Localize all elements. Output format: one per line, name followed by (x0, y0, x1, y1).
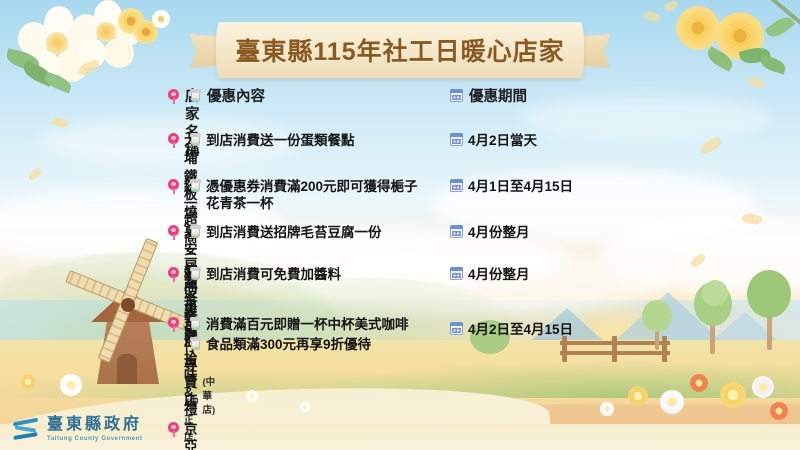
pin-icon (168, 179, 179, 194)
calendar-icon (450, 267, 463, 280)
store-branch: (中華店) (203, 374, 216, 416)
pin-icon (168, 133, 179, 148)
calendar-icon (450, 322, 463, 335)
pin-icon (168, 317, 179, 332)
offer-text: 到店消費可免費加醬料 (206, 266, 341, 283)
period-line: 4月2日當天 (450, 132, 680, 149)
drink-cup-icon (190, 133, 201, 147)
small-flower-decor (152, 10, 170, 28)
calendar-icon (450, 225, 463, 238)
flower-decor (752, 376, 774, 398)
table-row: 夏安居蔬食餐廳 到店消費送招牌毛苔豆腐一份 4月份整月 (0, 224, 800, 266)
offers-table: 店家名稱 優惠內容 優惠期間 (0, 88, 800, 362)
flower-decor (300, 402, 310, 412)
period-text: 4月2日當天 (468, 132, 537, 149)
period-line: 4月1日至4月15日 (450, 178, 680, 195)
offer-text: 到店消費送一份蛋類餐點 (206, 132, 355, 149)
title-ribbon: 臺東縣115年社工日暖心店家 (190, 22, 610, 78)
drink-cup-icon (190, 317, 201, 331)
table-row: 波波雞蛋仔專賣店 (中正店、微光集、觀光夜市、四維夜市) 到店消費可免費加醬料 … (0, 266, 800, 316)
drink-cup-icon (190, 89, 201, 103)
period-text: 4月2日至4月15日 (468, 321, 573, 338)
org-name-en: Taitung County Government (47, 436, 143, 442)
flower-decor (600, 402, 614, 416)
calendar-icon (450, 179, 463, 192)
flower-decor (770, 402, 788, 420)
offer-line: 到店消費可免費加醬料 (190, 266, 450, 283)
yellow-flower-decor (676, 6, 720, 50)
drink-cup-icon (190, 267, 201, 281)
drink-cup-icon (190, 179, 201, 193)
period-line: 4月2日至4月15日 (450, 321, 680, 338)
offer-line: 到店消費送招牌毛苔豆腐一份 (190, 224, 450, 241)
flower-decor (660, 390, 684, 414)
flower-decor (246, 390, 258, 402)
calendar-icon (450, 89, 463, 102)
header-cell-period: 優惠期間 (450, 88, 680, 106)
header-label-period: 優惠期間 (469, 88, 527, 106)
drink-cup-icon (190, 225, 201, 239)
offer-text: 到店消費送招牌毛苔豆腐一份 (206, 224, 382, 241)
org-name-cn: 臺東縣政府 (47, 417, 143, 433)
period-text: 4月份整月 (468, 224, 530, 241)
pin-icon (168, 422, 179, 437)
table-header-row: 店家名稱 優惠內容 優惠期間 (0, 88, 800, 132)
taitung-wave-logo-icon (12, 416, 40, 442)
pin-icon (168, 89, 179, 104)
flower-decor (720, 382, 746, 408)
pin-icon (168, 225, 179, 240)
store-line: 京亞拾味&禮 (中華店) (168, 316, 190, 418)
store-name: 京亞伴手禮 (184, 421, 198, 450)
offer-line: 消費滿百元即贈一杯中杯美式咖啡 (190, 316, 450, 333)
ribbon-body: 臺東縣115年社工日暖心店家 (216, 22, 584, 78)
offer-text: 憑優惠券消費滿200元即可獲得梔子花青茶一杯 (206, 178, 430, 212)
offer-line: 憑優惠券消費滿200元即可獲得梔子花青茶一杯 (190, 178, 450, 212)
flower-decor (690, 374, 708, 392)
pin-icon (168, 267, 179, 282)
header-label-offer: 優惠內容 (207, 88, 265, 106)
store-line: 京亞伴手禮 (東河店) (168, 421, 190, 450)
poster-title: 臺東縣115年社工日暖心店家 (235, 32, 564, 68)
table-row: 大埔鐵板燒 到店消費送一份蛋類餐點 4月2日當天 (0, 132, 800, 178)
period-line: 4月份整月 (450, 266, 680, 283)
period-line: 4月份整月 (450, 224, 680, 241)
poster-canvas: 臺東縣115年社工日暖心店家 店家名稱 優惠內容 (0, 0, 800, 450)
offer-line: 到店消費送一份蛋類餐點 (190, 132, 450, 149)
offer-text: 食品類滿300元再享9折優待 (206, 336, 371, 353)
offer-line: 食品類滿300元再享9折優待 (190, 336, 450, 353)
table-row: 京亞拾味&禮 (中華店) 京亞伴手禮 (東河店) 消費滿百元即贈一杯中杯美式咖啡 (0, 316, 800, 362)
flower-decor (628, 386, 648, 406)
period-text: 4月1日至4月15日 (468, 178, 573, 195)
header-cell-offer: 優惠內容 (190, 88, 450, 106)
offer-text: 消費滿百元即贈一杯中杯美式咖啡 (206, 316, 409, 333)
drink-cup-icon (190, 337, 201, 351)
calendar-icon (450, 133, 463, 146)
period-text: 4月份整月 (468, 266, 530, 283)
table-row: 統一超商三越門市 憑優惠券消費滿200元即可獲得梔子花青茶一杯 4月1日至4月1… (0, 178, 800, 224)
footer-logo: 臺東縣政府 Taitung County Government (12, 416, 143, 442)
